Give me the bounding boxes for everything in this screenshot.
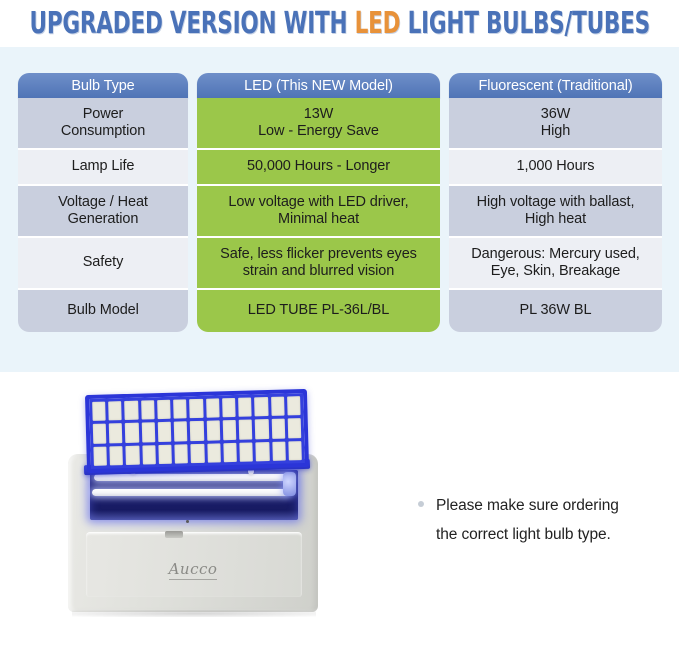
uv-tube-cap xyxy=(283,472,296,496)
cell-text: Minimal heat xyxy=(228,211,408,228)
lid-grid-cell xyxy=(93,446,107,466)
device-grid-lid xyxy=(85,389,309,473)
lid-grid-cell xyxy=(93,424,107,444)
note-text: Please make sure ordering the correct li… xyxy=(436,492,619,549)
lid-grid-cell xyxy=(238,397,252,417)
page-title-accent: LED xyxy=(354,6,400,41)
cell-text: High xyxy=(541,123,571,140)
lid-grid-cell xyxy=(206,398,220,418)
table-row: 1,000 Hours xyxy=(449,150,662,186)
lid-grid-cell xyxy=(158,422,172,442)
cell-text: strain and blurred vision xyxy=(220,263,417,280)
cell-text: Low voltage with LED driver, xyxy=(228,194,408,211)
table-row: 50,000 Hours - Longer xyxy=(197,150,440,186)
cell-text: Dangerous: Mercury used, xyxy=(471,246,639,263)
lid-grid-cell xyxy=(92,402,106,422)
column-header-led: LED (This NEW Model) xyxy=(197,73,440,98)
cell-text: Generation xyxy=(58,211,148,228)
lid-grid-cell xyxy=(254,397,268,417)
drawer-latch xyxy=(165,531,183,538)
table-column-led: LED (This NEW Model) 13W Low - Energy Sa… xyxy=(197,73,440,332)
lid-grid-cell xyxy=(175,444,189,464)
table-row: 13W Low - Energy Save xyxy=(197,98,440,150)
lid-grid-cell xyxy=(108,401,122,421)
lid-grid-cell xyxy=(157,400,171,420)
product-brand-label: Aucco xyxy=(62,560,324,578)
product-shadow xyxy=(72,610,316,617)
table-row: Lamp Life xyxy=(18,150,188,186)
lid-grid-cell xyxy=(191,443,205,463)
lid-grid-cell xyxy=(109,423,123,443)
lid-grid-cell xyxy=(287,396,301,416)
cell-text: Power xyxy=(61,106,145,123)
lid-grid-cell xyxy=(189,399,203,419)
comparison-table: Bulb Type Power Consumption Lamp Life Vo… xyxy=(18,73,662,332)
lid-grid xyxy=(89,393,305,469)
table-row: Dangerous: Mercury used, Eye, Skin, Brea… xyxy=(449,238,662,290)
lid-grid-cell xyxy=(271,419,285,439)
cell-text: Safe, less flicker prevents eyes xyxy=(220,246,417,263)
lid-grid-cell xyxy=(125,401,139,421)
lid-grid-cell xyxy=(206,421,220,441)
lid-grid-cell xyxy=(288,441,302,461)
cell-text: LED TUBE PL-36L/BL xyxy=(248,302,389,319)
cell-text: 1,000 Hours xyxy=(517,158,595,175)
lid-grid-cell xyxy=(271,397,285,417)
table-row: High voltage with ballast, High heat xyxy=(449,186,662,238)
lid-grid-cell xyxy=(239,442,253,462)
uv-tube-lower xyxy=(92,489,290,496)
table-row: Voltage / Heat Generation xyxy=(18,186,188,238)
table-column-bulb-type: Bulb Type Power Consumption Lamp Life Vo… xyxy=(18,73,188,332)
cell-text: Voltage / Heat xyxy=(58,194,148,211)
cell-text: 36W xyxy=(541,106,571,123)
page-title-part2: LIGHT BULBS/TUBES xyxy=(400,6,650,41)
lid-grid-cell xyxy=(173,399,187,419)
lid-grid-cell xyxy=(126,445,140,465)
table-row: Low voltage with LED driver, Minimal hea… xyxy=(197,186,440,238)
cell-text: Safety xyxy=(83,254,124,271)
cell-text: Bulb Model xyxy=(67,302,139,319)
lid-grid-cell xyxy=(190,421,204,441)
table-row: Bulb Model xyxy=(18,290,188,332)
page-title: UPGRADED VERSION WITH LED LIGHT BULBS/TU… xyxy=(29,9,649,39)
uv-tube-upper xyxy=(94,474,292,481)
note-line-2: the correct light bulb type. xyxy=(436,521,619,550)
lid-grid-cell xyxy=(125,423,139,443)
comparison-panel: Bulb Type Power Consumption Lamp Life Vo… xyxy=(0,47,679,372)
indicator-led-icon xyxy=(186,520,189,523)
lid-grid-cell xyxy=(256,442,270,462)
lid-grid-cell xyxy=(141,423,155,443)
cell-text: High voltage with ballast, xyxy=(477,194,635,211)
lid-grid-cell xyxy=(174,422,188,442)
lid-grid-cell xyxy=(158,444,172,464)
column-header-fluorescent: Fluorescent (Traditional) xyxy=(449,73,662,98)
lid-grid-cell xyxy=(239,420,253,440)
lid-grid-cell xyxy=(142,445,156,465)
product-image-bug-zapper: Aucco xyxy=(62,392,324,624)
bullet-dot-icon xyxy=(418,501,424,507)
table-row: LED TUBE PL-36L/BL xyxy=(197,290,440,332)
note-line-1: Please make sure ordering xyxy=(436,492,619,521)
lid-grid-cell xyxy=(272,441,286,461)
column-header-bulb-type: Bulb Type xyxy=(18,73,188,98)
cell-text: High heat xyxy=(477,211,635,228)
table-row: Safe, less flicker prevents eyes strain … xyxy=(197,238,440,290)
lid-grid-cell xyxy=(223,420,237,440)
lid-grid-cell xyxy=(141,400,155,420)
cell-text: 50,000 Hours - Longer xyxy=(247,158,390,175)
cell-text: 13W xyxy=(258,106,379,123)
lid-grid-cell xyxy=(110,446,124,466)
brand-text: Aucco xyxy=(169,560,218,580)
note-ordering: Please make sure ordering the correct li… xyxy=(418,492,658,549)
cell-text: Lamp Life xyxy=(72,158,135,175)
cell-text: Eye, Skin, Breakage xyxy=(471,263,639,280)
page-title-bar: UPGRADED VERSION WITH LED LIGHT BULBS/TU… xyxy=(0,0,679,47)
lid-grid-cell xyxy=(222,398,236,418)
lid-grid-cell xyxy=(207,443,221,463)
cell-text: PL 36W BL xyxy=(520,302,592,319)
page-title-part1: UPGRADED VERSION WITH xyxy=(29,6,354,41)
lid-grid-cell xyxy=(255,419,269,439)
table-column-fluorescent: Fluorescent (Traditional) 36W High 1,000… xyxy=(449,73,662,332)
table-row: PL 36W BL xyxy=(449,290,662,332)
lid-grid-cell xyxy=(223,443,237,463)
product-section: Aucco xyxy=(0,372,679,662)
cell-text: Low - Energy Save xyxy=(258,123,379,140)
table-row: 36W High xyxy=(449,98,662,150)
lid-grid-cell xyxy=(287,418,301,438)
table-row: Power Consumption xyxy=(18,98,188,150)
cell-text: Consumption xyxy=(61,123,145,140)
table-row: Safety xyxy=(18,238,188,290)
